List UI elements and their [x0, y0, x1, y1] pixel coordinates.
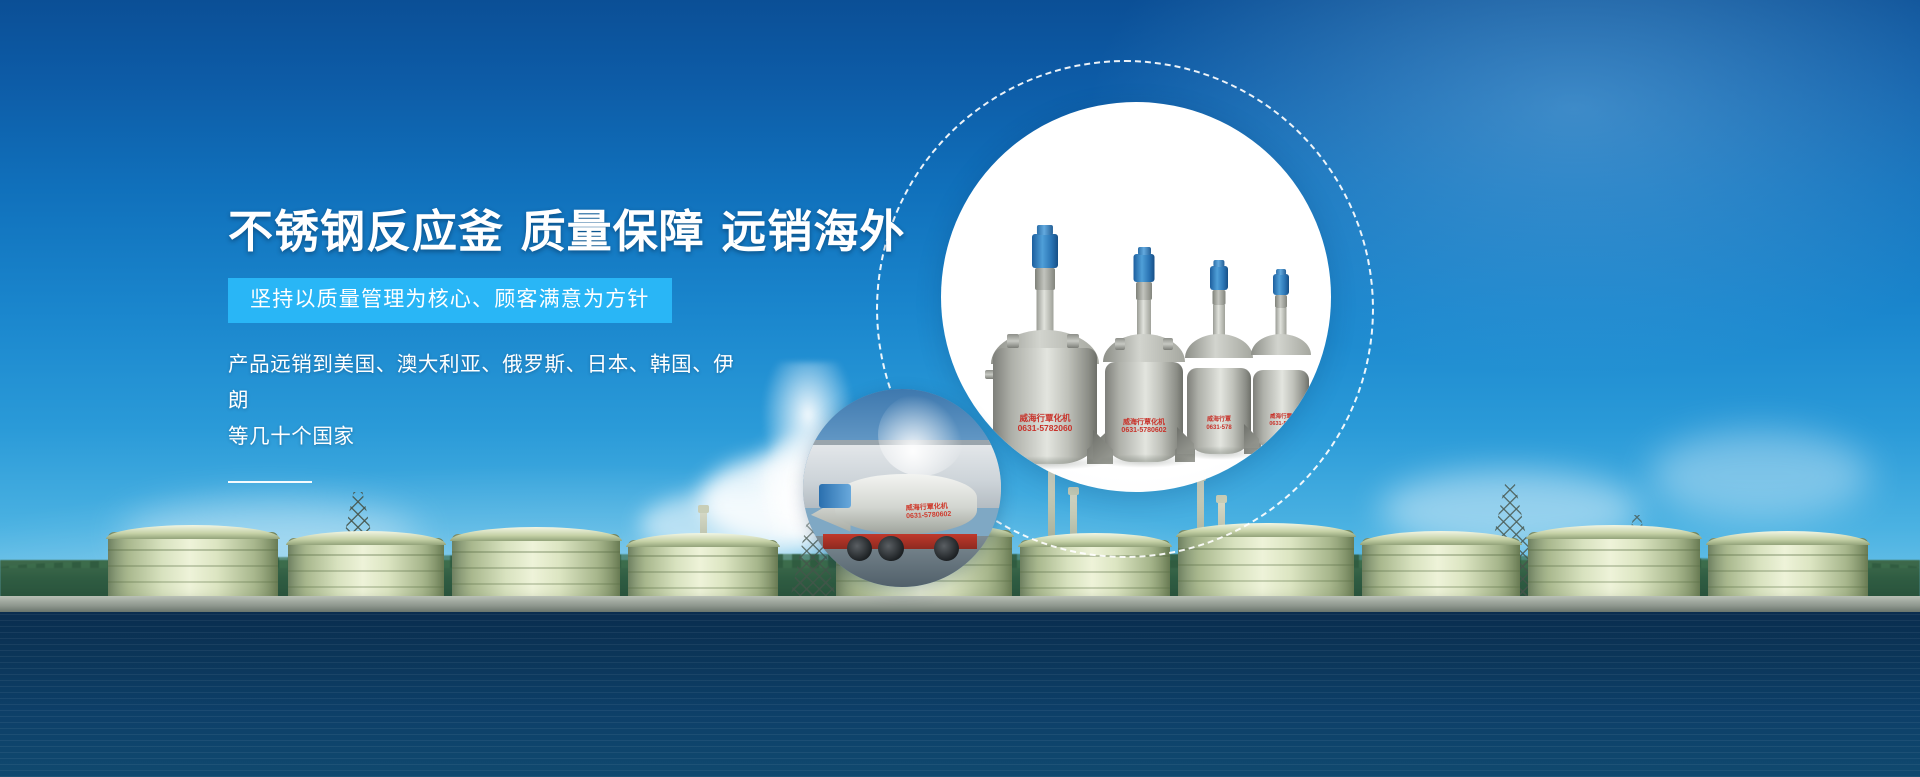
vessel-lid	[1251, 334, 1311, 355]
vessel-shadow	[1097, 454, 1191, 468]
cloud-icon	[1650, 430, 1870, 520]
vessel-body	[1105, 362, 1183, 462]
inset-label: 威海行覃化机 0631-5780602	[906, 502, 952, 520]
slogan-badge: 坚持以质量管理为核心、顾客满意为方针	[228, 278, 672, 323]
hero-banner: 威海行覃化机 0631-5782060 威海行覃化机 0631-5780602	[0, 0, 1920, 777]
vessel-label: 威海行覃化机 0631-5782060	[1018, 413, 1073, 434]
gearbox-icon	[1213, 290, 1226, 305]
description-line2: 等几十个国家	[228, 425, 355, 448]
water-surface	[0, 612, 1920, 777]
vessel-nozzle-icon	[1163, 338, 1173, 350]
reactor-vessel: 威海行覃化机 0631-5782060	[993, 234, 1097, 464]
description-line1: 产品远销到美国、澳大利亚、俄罗斯、日本、韩国、伊朗	[228, 353, 734, 412]
vessel-label: 威海行覃化机 0631-5780602	[1121, 419, 1166, 437]
agitator-motor-icon	[1273, 274, 1289, 295]
vessel-body	[993, 348, 1097, 464]
inset-wheel-icon	[878, 536, 904, 562]
vessel-neck	[1276, 308, 1287, 336]
vessel-shadow	[1247, 440, 1314, 454]
agitator-motor-icon	[1134, 254, 1155, 282]
vessel-nozzle-icon	[1007, 334, 1019, 348]
gearbox-icon	[1136, 282, 1152, 300]
divider-rule	[228, 481, 312, 483]
vessel-shadow	[1181, 446, 1258, 460]
inset-tank-body	[835, 474, 978, 533]
inset-motor-icon	[819, 484, 851, 508]
reactor-vessel: 威海行覃 0631-578	[1253, 274, 1309, 448]
vessel-shadow	[983, 456, 1108, 470]
vessel-label: 威海行覃 0631-578	[1206, 417, 1231, 432]
page-title: 不锈钢反应釜 质量保障 远销海外	[228, 208, 988, 256]
vessel-nozzle-icon	[1067, 334, 1079, 348]
description-text: 产品远销到美国、澳大利亚、俄罗斯、日本、韩国、伊朗 等几十个国家	[228, 347, 748, 455]
vessel-nozzle-icon	[1115, 338, 1125, 350]
vessel-lid	[1185, 334, 1253, 358]
vessel-label-line1: 威海行覃化机	[1121, 419, 1166, 428]
vessel-neck	[1137, 300, 1151, 338]
vessel-label-line2: 0631-578	[1206, 425, 1231, 433]
vessel-neck	[1213, 305, 1225, 337]
agitator-motor-icon	[1210, 266, 1228, 290]
gearbox-icon	[1035, 268, 1055, 290]
reactor-vessel: 威海行覃 0631-578	[1187, 266, 1251, 454]
vessel-body	[1187, 368, 1251, 454]
vessel-label-line2: 0631-5780602	[1121, 427, 1166, 436]
hero-copy: 不锈钢反应釜 质量保障 远销海外 坚持以质量管理为核心、顾客满意为方针 产品远销…	[228, 208, 988, 483]
agitator-motor-icon	[1032, 234, 1058, 268]
vessel-label-line1: 威海行覃	[1269, 414, 1292, 421]
vessel-label-line2: 0631-578	[1269, 421, 1292, 428]
vessel-label: 威海行覃 0631-578	[1269, 414, 1292, 428]
vessel-label-line2: 0631-5782060	[1018, 423, 1073, 434]
vessel-label-line1: 威海行覃化机	[1018, 413, 1073, 424]
vessel-body	[1253, 370, 1309, 448]
reactor-vessel: 威海行覃化机 0631-5780602	[1105, 254, 1183, 462]
vessel-neck	[1037, 290, 1054, 334]
vessel-label-line1: 威海行覃	[1206, 417, 1231, 425]
gearbox-icon	[1275, 295, 1287, 308]
